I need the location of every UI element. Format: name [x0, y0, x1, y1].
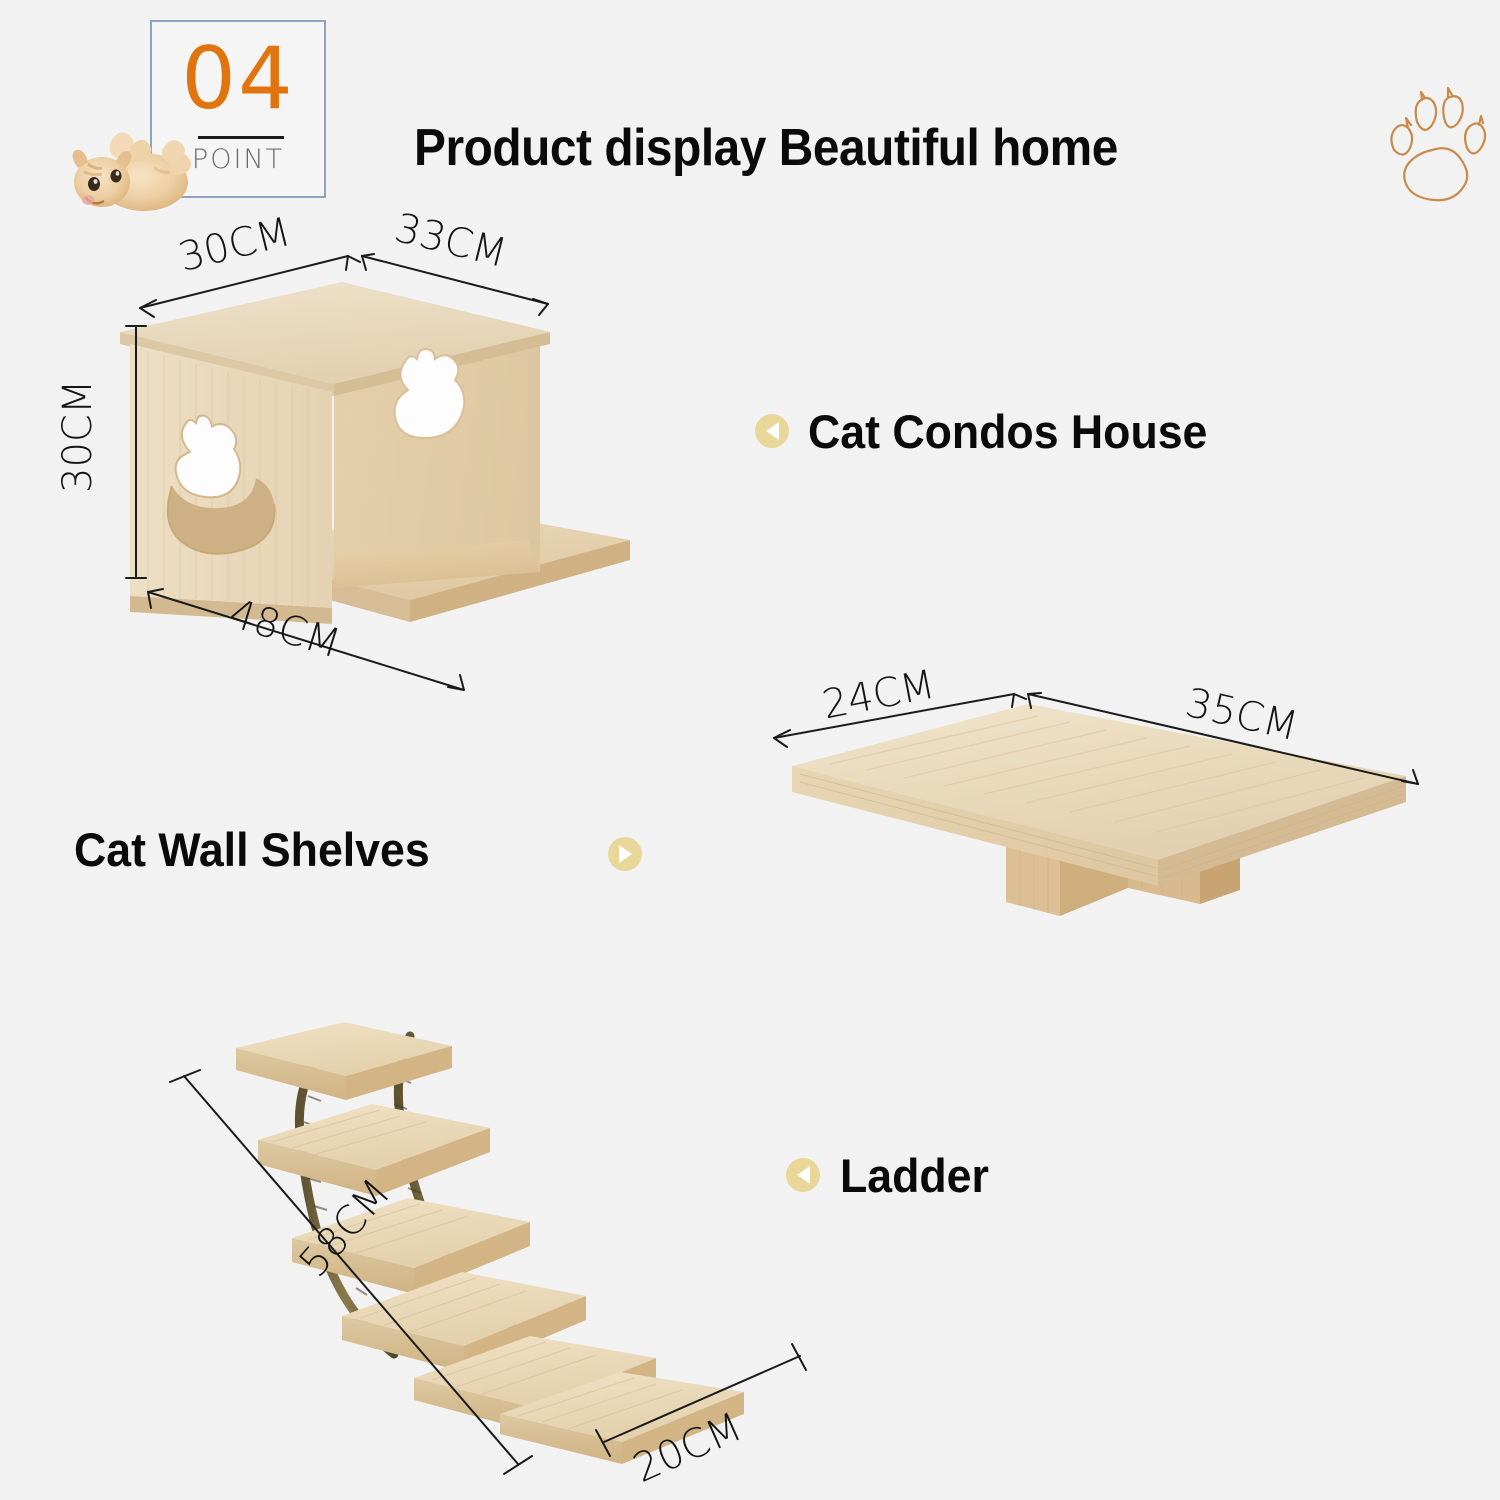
bullet-cat-condos-house — [755, 414, 789, 448]
badge-divider — [198, 136, 284, 139]
product-label-cat-condos-house: Cat Condos House — [808, 404, 1207, 459]
bullet-cat-wall-shelves — [608, 837, 642, 871]
kitten-photo — [58, 110, 198, 214]
triangle-left-icon — [766, 422, 779, 440]
triangle-right-icon — [619, 845, 632, 863]
point-badge: 04 POINT — [38, 14, 338, 214]
cat-condos-dimension-lines — [100, 228, 700, 728]
dimension-label-house-height: 30CM — [55, 380, 101, 493]
product-label-ladder: Ladder — [840, 1148, 989, 1203]
bullet-ladder — [786, 1158, 820, 1192]
infographic-canvas: 04 POINT — [0, 0, 1500, 1500]
paw-print-icon — [1378, 96, 1486, 212]
page-title: Product display Beautiful home — [414, 118, 1118, 178]
triangle-left-icon — [797, 1166, 810, 1184]
product-label-cat-wall-shelves: Cat Wall Shelves — [74, 822, 430, 877]
